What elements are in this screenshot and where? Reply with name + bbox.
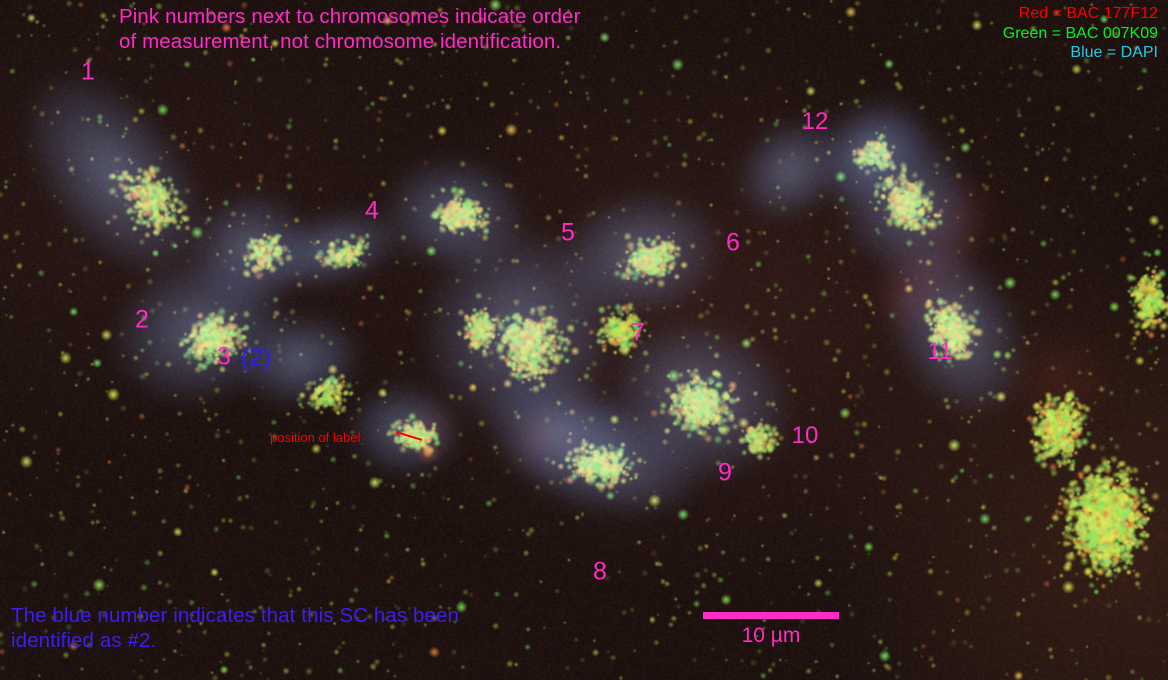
legend-item-1: Green = BAC 007K09	[1003, 24, 1158, 44]
chromosome-number-9: 9	[718, 461, 732, 486]
chromosome-number-5: 5	[561, 221, 575, 246]
legend-item-2: Blue = DAPI	[1003, 43, 1158, 63]
chromosome-number-7: 7	[631, 321, 645, 346]
chromosome-number-4: 4	[365, 199, 379, 224]
chromosome-number-1: 1	[81, 60, 95, 85]
blue-note: The blue number indicates that this SC h…	[11, 603, 459, 653]
chromosome-number-11: 11	[928, 340, 953, 364]
micrograph-canvas: Pink numbers next to chromosomes indicat…	[0, 0, 1168, 680]
chromosome-number-10: 10	[792, 424, 819, 448]
position-of-label-text: position of label	[270, 430, 360, 445]
chromosome-number-3: 3	[217, 345, 231, 370]
title-note: Pink numbers next to chromosomes indicat…	[119, 4, 581, 54]
position-of-label-leader-line	[396, 431, 423, 441]
chromosome-number-6: 6	[726, 231, 740, 256]
chromosome-number-2: 2	[135, 308, 149, 333]
chromosome-number-8: 8	[593, 560, 607, 585]
chromosome-number-12: 12	[802, 110, 829, 134]
channel-legend: Red = BAC 177F12Green = BAC 007K09Blue =…	[1003, 4, 1158, 63]
scale-bar-label: 10 µm	[703, 624, 839, 648]
scale-bar	[703, 612, 839, 619]
legend-item-0: Red = BAC 177F12	[1003, 4, 1158, 24]
identified-sc-label: (2)	[241, 346, 272, 371]
annotation-overlay: Pink numbers next to chromosomes indicat…	[0, 0, 1168, 680]
